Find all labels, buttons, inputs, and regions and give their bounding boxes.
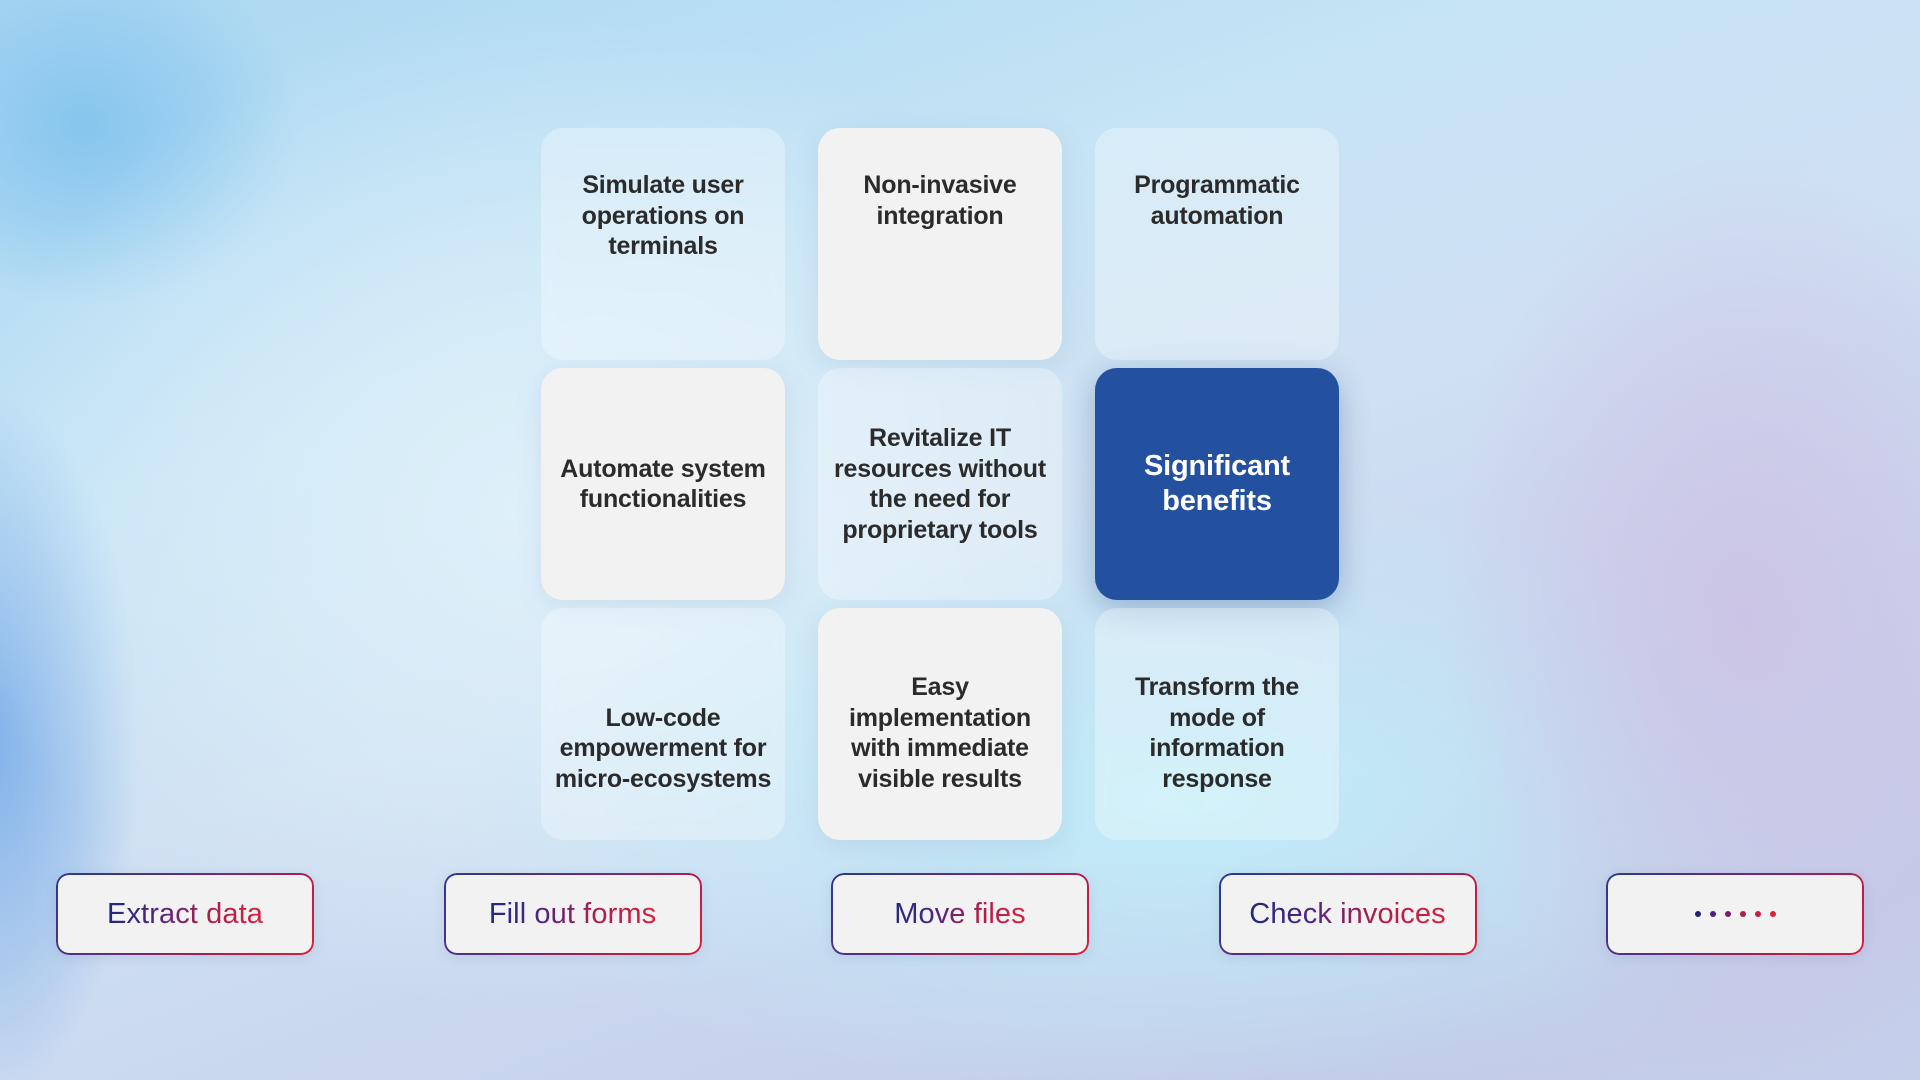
action-pill-label-fill-out-forms: Fill out forms xyxy=(489,898,656,931)
card-label-easy-implementation: Easy implementation with immediate visib… xyxy=(849,672,1031,794)
action-pill-move-files[interactable]: Move files xyxy=(831,873,1089,955)
card-revitalize-it-resources[interactable]: Revitalize IT resources without the need… xyxy=(818,368,1062,600)
card-transform-information-response[interactable]: Transform the mode of information respon… xyxy=(1095,608,1339,840)
action-pill-extract-data[interactable]: Extract data xyxy=(56,873,314,955)
card-significant-benefits[interactable]: Significant benefits xyxy=(1095,368,1339,600)
card-label-significant-benefits: Significant benefits xyxy=(1144,449,1290,519)
card-label-programmatic-automation: Programmatic automation xyxy=(1134,170,1300,231)
card-label-transform-information-response: Transform the mode of information respon… xyxy=(1135,672,1299,794)
ellipsis-dot xyxy=(1725,911,1731,917)
card-label-low-code-empowerment: Low-code empowerment for micro-ecosystem… xyxy=(555,703,771,795)
ellipsis-dot xyxy=(1695,911,1701,917)
action-pill-row: Extract dataFill out formsMove filesChec… xyxy=(56,873,1864,955)
card-programmatic-automation[interactable]: Programmatic automation xyxy=(1095,128,1339,360)
action-pill-label-check-invoices: Check invoices xyxy=(1249,898,1445,931)
benefits-card-grid: Simulate user operations on terminalsNon… xyxy=(541,128,1379,840)
card-label-revitalize-it-resources: Revitalize IT resources without the need… xyxy=(834,423,1046,545)
card-simulate-user-operations[interactable]: Simulate user operations on terminals xyxy=(541,128,785,360)
card-label-non-invasive-integration: Non-invasive integration xyxy=(863,170,1016,231)
action-pill-label-move-files: Move files xyxy=(894,898,1026,931)
action-pill-label-extract-data: Extract data xyxy=(107,898,263,931)
card-automate-system-functionalities[interactable]: Automate system functionalities xyxy=(541,368,785,600)
action-pill-more-actions[interactable] xyxy=(1606,873,1864,955)
card-label-simulate-user-operations: Simulate user operations on terminals xyxy=(582,170,745,262)
ellipsis-dot xyxy=(1770,911,1776,917)
card-easy-implementation[interactable]: Easy implementation with immediate visib… xyxy=(818,608,1062,840)
card-label-automate-system-functionalities: Automate system functionalities xyxy=(560,454,765,515)
action-pill-fill-out-forms[interactable]: Fill out forms xyxy=(444,873,702,955)
action-pill-check-invoices[interactable]: Check invoices xyxy=(1219,873,1477,955)
card-low-code-empowerment[interactable]: Low-code empowerment for micro-ecosystem… xyxy=(541,608,785,840)
ellipsis-dot xyxy=(1740,911,1746,917)
card-non-invasive-integration[interactable]: Non-invasive integration xyxy=(818,128,1062,360)
ellipsis-dot xyxy=(1710,911,1716,917)
ellipsis-icon xyxy=(1695,911,1776,917)
ellipsis-dot xyxy=(1755,911,1761,917)
